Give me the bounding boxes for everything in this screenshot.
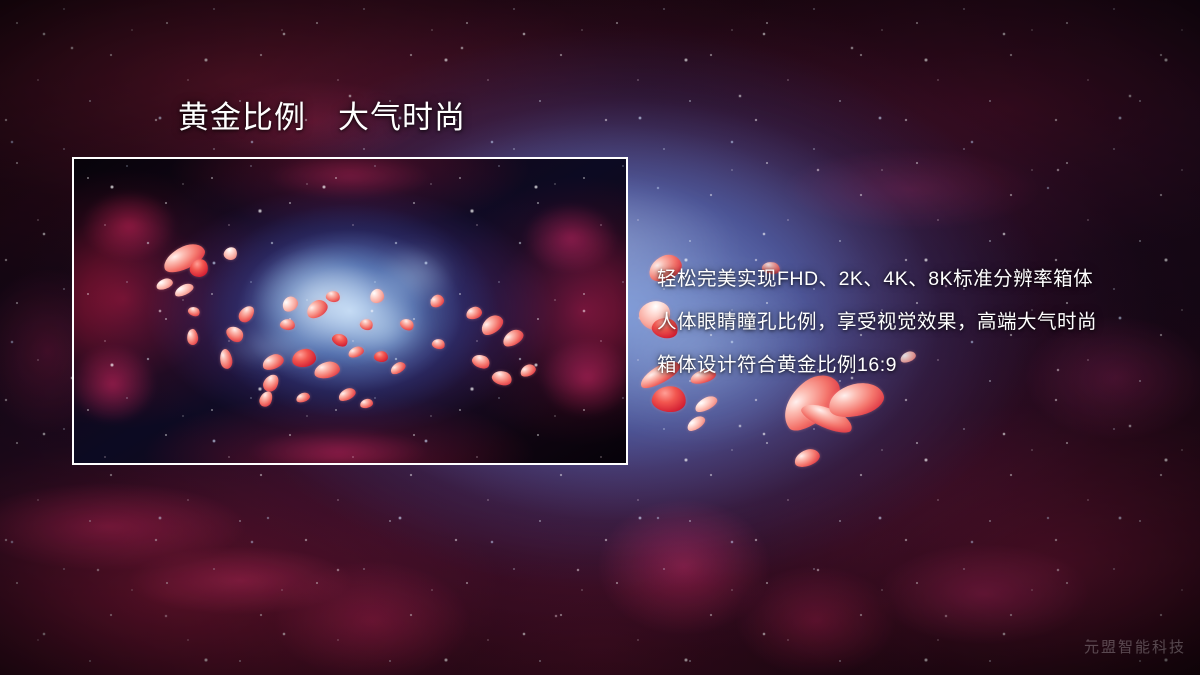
page-title: 黄金比例 大气时尚 [178,101,466,135]
description-line: 轻松完美实现FHD、2K、4K、8K标准分辨率箱体 [657,258,1187,301]
petal [693,393,720,414]
petal [650,384,687,414]
frame-starfield-bright-icon [74,159,626,463]
company-watermark: 元盟智能科技 [1084,636,1186,657]
feature-description: 轻松完美实现FHD、2K、4K、8K标准分辨率箱体 人体眼睛瞳孔比例，享受视觉效… [657,258,1187,387]
presentation-slide: 黄金比例 大气时尚 轻松完美实现FHD、2K、4K、8K标准分辨率箱体 人体眼睛… [0,0,1200,675]
description-line: 人体眼睛瞳孔比例，享受视觉效果，高端大气时尚 [657,301,1187,344]
frame-inner-image [74,159,626,463]
petal [798,398,855,438]
description-line: 箱体设计符合黄金比例16:9 [657,344,1187,387]
petal [792,446,822,469]
petal [685,414,708,434]
framed-product-image [72,157,628,465]
